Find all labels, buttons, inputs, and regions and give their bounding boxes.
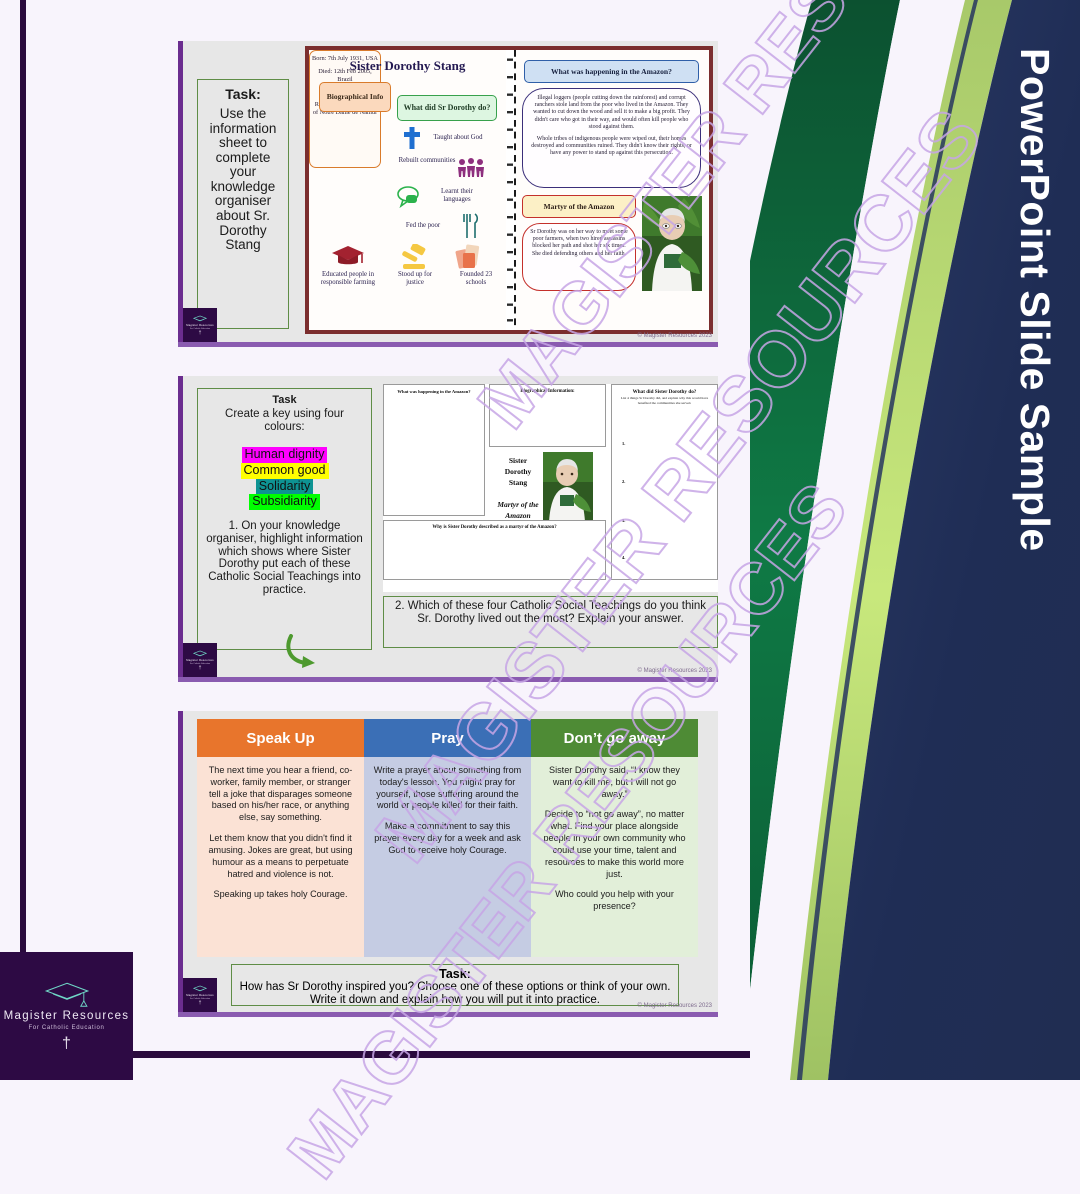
slide-logo-badge: Magister Resources For Catholic Educatio… [183, 978, 217, 1012]
column-title: Don’t go away [531, 719, 698, 757]
slide-logo-badge: Magister Resources For Catholic Educatio… [183, 643, 217, 677]
book-right-page: What was happening in the Amazon? Illega… [516, 50, 709, 330]
worksheet-box-biographical: Biographical Information: [489, 384, 606, 447]
action-label: Educated people in responsible farming [315, 271, 381, 287]
gavel-icon [399, 244, 429, 270]
key-subsidiarity: Subsidiarity [249, 494, 320, 510]
amazon-paragraph: Whole tribes of indigenous people were w… [530, 136, 693, 158]
column-paragraph: Decide to “not go away”, no matter what.… [539, 809, 690, 880]
graduation-cap-icon [193, 985, 207, 993]
worksheet-box-title: What did Sister Dorothy do? [612, 385, 717, 396]
slide2-task-subtitle: Create a key using four colours: [204, 408, 365, 433]
books-icon [453, 242, 483, 270]
dorothy-photo-svg [543, 452, 593, 522]
graduation-cap-icon [331, 244, 365, 268]
worksheet-caption-name: Sister Dorothy Stang [495, 456, 541, 489]
what-did-she-do-heading: What did Sr Dorothy do? [397, 95, 497, 121]
cross-icon: † [199, 1001, 202, 1006]
slide-copyright: © Magister Resources 2023 [638, 333, 712, 339]
column-pray: Pray Write a prayer about something from… [364, 719, 531, 957]
key-human-dignity: Human dignity [242, 447, 328, 463]
brand-name: Magister Resources [4, 1010, 130, 1022]
slide3-task-box: Task: How has Sr Dorothy inspired you? C… [231, 964, 679, 1006]
amazon-paragraph: Illegal loggers (people cutting down the… [530, 95, 693, 131]
worksheet-box-amazon: What was happening in the Amazon? [383, 384, 485, 516]
colour-key-list: Human dignity Common good Solidarity Sub… [204, 447, 365, 510]
column-paragraph: Speaking up takes holy Courage. [205, 889, 356, 901]
slide1-task-body: Use the information sheet to complete yo… [202, 107, 284, 253]
column-title: Pray [364, 719, 531, 757]
martyr-heading: Martyr of the Amazon [522, 195, 636, 218]
slide-2[interactable]: Task Create a key using four colours: Hu… [178, 376, 718, 677]
worksheet-box-title: What was happening in the Amazon? [384, 385, 484, 398]
key-common-good: Common good [241, 463, 329, 479]
column-paragraph: Who could you help with your presence? [539, 889, 690, 913]
slide2-task-instruction: 1. On your knowledge organiser, highligh… [204, 520, 365, 597]
column-body: Sister Dorothy said, “I know they want t… [531, 757, 698, 957]
column-title: Speak Up [197, 719, 364, 757]
cross-icon: † [199, 666, 202, 671]
knowledge-organiser-worksheet: What was happening in the Amazon? Biogra… [383, 384, 718, 592]
worksheet-number: 1. [622, 441, 625, 446]
cross-icon: † [199, 331, 202, 336]
cross-icon: † [62, 1036, 71, 1052]
key-solidarity: Solidarity [256, 479, 313, 495]
slide2-task-box: Task Create a key using four colours: Hu… [197, 388, 372, 650]
worksheet-number: 2. [622, 479, 625, 484]
people-icon [457, 158, 485, 178]
book-left-page: Sister Dorothy Stang Biographical Info B… [309, 50, 506, 330]
column-paragraph: Make a commitment to say this prayer eve… [372, 821, 523, 856]
page-root: PowerPoint Slide Sample Magister Resourc… [0, 0, 1080, 1080]
action-label: Fed the poor [391, 222, 455, 230]
worksheet-dorothy-photo [543, 452, 593, 522]
column-speak-up: Speak Up The next time you hear a friend… [197, 719, 364, 957]
graduation-cap-icon [44, 981, 90, 1007]
curved-arrow-icon [283, 634, 339, 668]
amazon-question-heading: What was happening in the Amazon? [524, 60, 699, 83]
brand-name: Magister Resources [186, 994, 214, 997]
information-sheet-book: Sister Dorothy Stang Biographical Info B… [305, 46, 713, 334]
dorothy-photo-svg [642, 196, 702, 291]
amazon-body: Illegal loggers (people cutting down the… [522, 88, 701, 188]
slide-copyright: © Magister Resources 2023 [638, 1003, 712, 1009]
worksheet-number: 4. [622, 555, 625, 560]
slide2-question-2: 2. Which of these four Catholic Social T… [383, 596, 718, 648]
column-body: The next time you hear a friend, co-work… [197, 757, 364, 957]
brand-subtitle: For Catholic Education [28, 1025, 104, 1031]
column-dont-go-away: Don’t go away Sister Dorothy said, “I kn… [531, 719, 698, 957]
worksheet-box-title: Why is Sister Dorothy described as a mar… [384, 521, 605, 534]
action-label: Founded 23 schools [451, 271, 501, 287]
column-paragraph: Let them know that you didn't find it am… [205, 833, 356, 880]
brand-name: Magister Resources [186, 659, 214, 662]
cross-icon [403, 126, 421, 150]
slide1-task-box: Task: Use the information sheet to compl… [197, 79, 289, 329]
left-frame-line [20, 0, 26, 1012]
worksheet-box-martyr: Why is Sister Dorothy described as a mar… [383, 520, 606, 580]
slide-3[interactable]: Speak Up The next time you hear a friend… [178, 711, 718, 1012]
action-label: Learnt their languages [427, 188, 487, 204]
martyr-body: Sr Dorothy was on her way to meet some p… [522, 223, 636, 291]
worksheet-caption-sub: Martyr of the Amazon [491, 500, 545, 522]
dorothy-photo [642, 196, 702, 291]
slide1-task-heading: Task: [202, 86, 284, 102]
action-label: Stood up for justice [389, 271, 441, 287]
graduation-cap-icon [193, 315, 207, 323]
slide2-task-heading: Task [204, 394, 365, 406]
action-label: Taught about God [425, 134, 491, 142]
worksheet-box-subtitle: List 4 things Sr Dorothy did, and explai… [612, 396, 717, 405]
book-title: Sister Dorothy Stang [309, 58, 506, 74]
biographical-info-heading: Biographical Info [319, 82, 391, 112]
speech-bubbles-icon [397, 186, 425, 208]
worksheet-box-title: Biographical Information: [490, 385, 605, 398]
right-banner: PowerPoint Slide Sample [750, 0, 1080, 1080]
worksheet-number: 3. [622, 518, 625, 523]
slide3-task-body: How has Sr Dorothy inspired you? Choose … [236, 981, 674, 1007]
column-body: Write a prayer about something from toda… [364, 757, 531, 957]
column-paragraph: Sister Dorothy said, “I know they want t… [539, 765, 690, 800]
column-paragraph: The next time you hear a friend, co-work… [205, 765, 356, 824]
brand-logo: Magister Resources For Catholic Educatio… [0, 952, 133, 1080]
action-label: Rebuilt communities [397, 157, 457, 165]
cutlery-icon [459, 212, 481, 240]
banner-title: PowerPoint Slide Sample [1011, 48, 1058, 552]
slide-1[interactable]: Task: Use the information sheet to compl… [178, 41, 718, 342]
slide3-task-heading: Task: [236, 967, 674, 981]
worksheet-box-what-did-she-do: What did Sister Dorothy do? List 4 thing… [611, 384, 718, 580]
column-paragraph: Write a prayer about something from toda… [372, 765, 523, 812]
slide-logo-badge: Magister Resources For Catholic Educatio… [183, 308, 217, 342]
slide-copyright: © Magister Resources 2023 [638, 668, 712, 674]
brand-name: Magister Resources [186, 324, 214, 327]
graduation-cap-icon [193, 650, 207, 658]
